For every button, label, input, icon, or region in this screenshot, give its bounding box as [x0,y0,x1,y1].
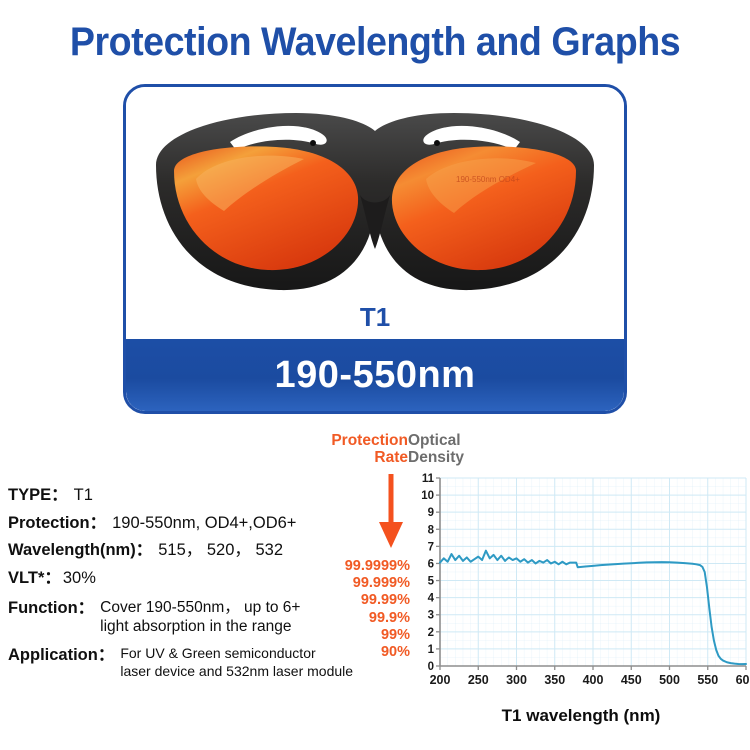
y-tick-label: 1 [428,644,435,656]
spec-row-function: Function： Cover 190-550nm， up to 6+ ligh… [8,598,408,637]
product-card: 190-550nm OD4+ T1 190-550nm [123,84,627,414]
spec-key: Function： [8,598,94,619]
y-tick-label: 5 [428,576,435,588]
y-tick-label: 0 [428,661,434,673]
spec-key: TYPE： [8,485,68,506]
spec-row-type: TYPE： T1 [8,485,408,506]
hinge-dot-right [434,140,440,146]
x-tick-label: 400 [583,673,604,687]
x-tick-label: 350 [544,673,565,687]
lens-imprint-text: 190-550nm OD4+ [456,175,520,184]
spec-value: 190-550nm, OD4+,OD6+ [112,513,296,534]
glasses-illustration: 190-550nm OD4+ [126,87,624,302]
spec-value: T1 [74,485,93,506]
spec-key: Wavelength(nm)： [8,540,152,561]
spec-value: 30% [63,568,96,589]
spec-row-wavelength: Wavelength(nm)： 515， 520， 532 [8,540,408,561]
page-title: Protection Wavelength and Graphs [23,20,728,65]
spec-key: VLT*： [8,568,61,589]
card-banner: 190-550nm [126,339,624,411]
y-tick-label: 3 [428,610,434,622]
spec-value: For UV & Green semiconductor laser devic… [120,645,353,680]
x-tick-label: 300 [506,673,527,687]
y-tick-label: 6 [428,558,434,570]
spec-row-vlt: VLT*： 30% [8,568,408,589]
optical-density-header: Optical Density [408,432,500,467]
x-axis-label: T1 wavelength (nm) [412,706,750,726]
y-tick-label: 9 [428,507,434,519]
spec-list: TYPE： T1 Protection： 190-550nm, OD4+,OD6… [8,485,408,689]
y-tick-label: 8 [428,524,435,536]
y-tick-label: 7 [428,541,434,553]
spec-row-protection: Protection： 190-550nm, OD4+,OD6+ [8,513,408,534]
hinge-dot-left [310,140,316,146]
y-tick-label: 10 [421,490,434,502]
y-tick-label: 4 [428,593,435,605]
x-tick-label: 200 [430,673,451,687]
x-tick-label: 250 [468,673,489,687]
spec-row-application: Application： For UV & Green semiconducto… [8,645,408,680]
card-type-label: T1 [126,302,624,333]
x-tick-label: 600 [736,673,750,687]
glasses-photo: 190-550nm OD4+ [126,87,624,302]
chart-svg: 0123456789101120025030035040045050055060… [412,470,750,700]
spec-value: 515， 520， 532 [158,540,283,561]
x-tick-label: 500 [659,673,680,687]
x-tick-label: 450 [621,673,642,687]
spec-value: Cover 190-550nm， up to 6+ light absorpti… [100,598,300,637]
y-tick-label: 11 [422,473,435,485]
protection-rate-header: Protection Rate [318,432,408,467]
optical-density-chart: 0123456789101120025030035040045050055060… [412,470,750,700]
spec-key: Protection： [8,513,106,534]
x-tick-label: 550 [697,673,718,687]
y-tick-label: 2 [428,627,434,639]
card-banner-text: 190-550nm [275,354,476,397]
spec-key: Application： [8,645,114,666]
